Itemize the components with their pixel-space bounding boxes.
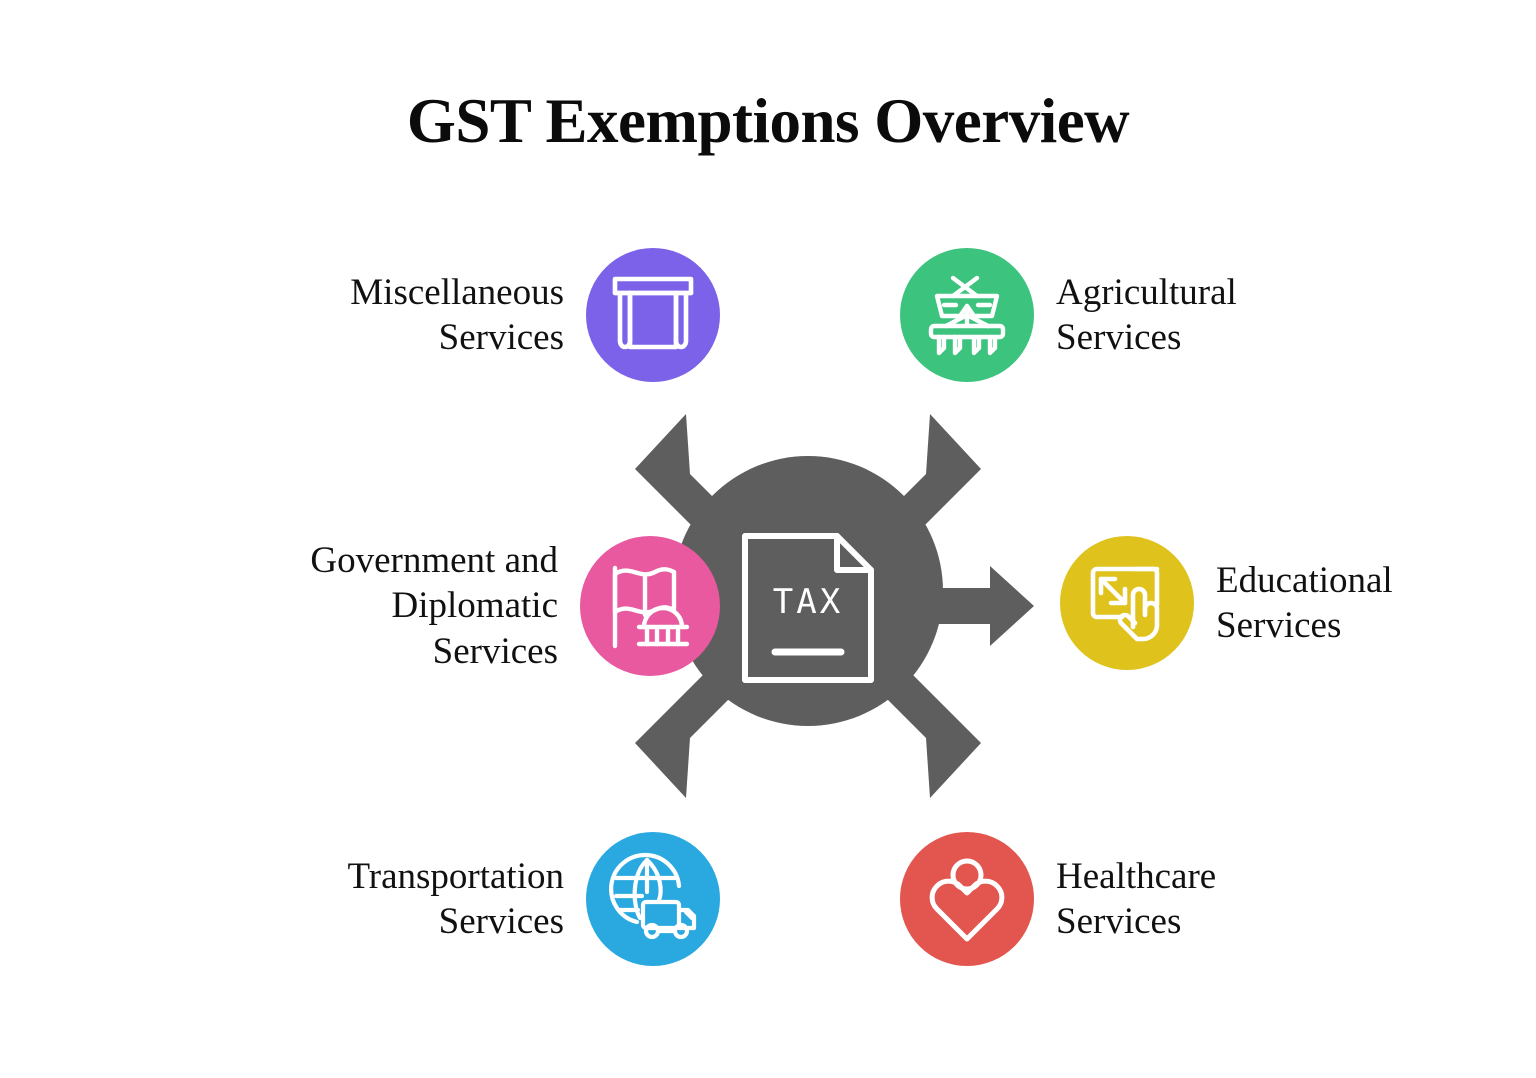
flag-government-building-icon <box>580 536 720 676</box>
node-label-transportation: Transportation Services <box>347 854 564 944</box>
node-label-educational: Educational Services <box>1216 558 1393 648</box>
cultivator-icon <box>900 248 1034 382</box>
node-educational[interactable]: Educational Services <box>1060 536 1520 670</box>
tax-label: TAX <box>737 582 879 622</box>
person-heart-icon <box>900 832 1034 966</box>
tax-document-icon: TAX <box>737 528 879 688</box>
node-government-diplomatic[interactable]: Government and Diplomatic Services <box>10 536 720 676</box>
node-label-agricultural: Agricultural Services <box>1056 270 1237 360</box>
node-healthcare[interactable]: Healthcare Services <box>900 832 1460 966</box>
globe-truck-icon <box>586 832 720 966</box>
node-label-healthcare: Healthcare Services <box>1056 854 1216 944</box>
gst-exemptions-diagram: TAX Miscellaneous Services <box>0 0 1536 1078</box>
node-label-government-diplomatic: Government and Diplomatic Services <box>310 538 558 673</box>
curtains-icon <box>586 248 720 382</box>
node-miscellaneous[interactable]: Miscellaneous Services <box>160 248 720 382</box>
screen-hand-icon <box>1060 536 1194 670</box>
node-label-miscellaneous: Miscellaneous Services <box>350 270 564 360</box>
node-transportation[interactable]: Transportation Services <box>180 832 720 966</box>
node-agricultural[interactable]: Agricultural Services <box>900 248 1460 382</box>
